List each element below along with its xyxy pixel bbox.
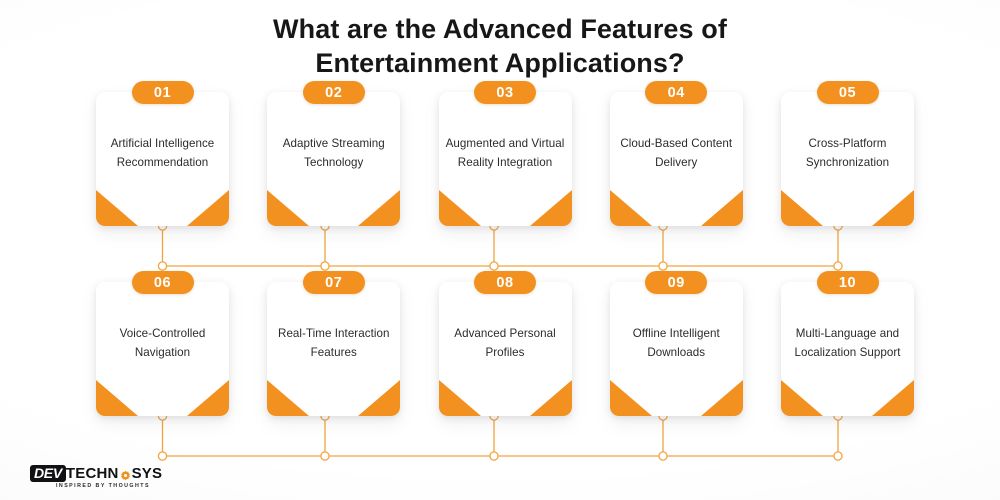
flap-right-triangle (187, 190, 229, 226)
card-body[interactable]: Voice-Controlled Navigation (96, 282, 229, 416)
flap-left-triangle (781, 190, 823, 226)
envelope-flap-icon (781, 380, 914, 416)
brand-logo-wordmark: DEV TECHN SYS (30, 465, 162, 482)
feature-card-10[interactable]: 10 Multi-Language and Localization Suppo… (781, 282, 914, 416)
flap-left-triangle (781, 380, 823, 416)
envelope-flap-icon (267, 190, 400, 226)
card-label: Advanced Personal Profiles (444, 324, 566, 374)
card-number-badge: 02 (303, 81, 365, 104)
page-title-line-1: What are the Advanced Features of (0, 12, 1000, 46)
card-body[interactable]: Advanced Personal Profiles (439, 282, 572, 416)
feature-card-row-2: 06 Voice-Controlled Navigation 07 Real-T… (96, 282, 914, 416)
card-number-badge: 06 (132, 271, 194, 294)
connector-node-bus-06 (158, 452, 166, 460)
card-label: Cross-Platform Synchronization (787, 134, 909, 184)
connector-node-bus-09 (659, 452, 667, 460)
flap-right-triangle (187, 380, 229, 416)
envelope-flap-icon (439, 190, 572, 226)
feature-card-09[interactable]: 09 Offline Intelligent Downloads (610, 282, 743, 416)
flap-right-triangle (701, 190, 743, 226)
card-number-badge: 01 (132, 81, 194, 104)
card-body[interactable]: Augmented and Virtual Reality Integratio… (439, 92, 572, 226)
envelope-flap-icon (781, 190, 914, 226)
connector-node-bus-07 (321, 452, 329, 460)
brand-logo: DEV TECHN SYS INSPIRED BY THOUGHTS (30, 465, 162, 489)
brand-logo-techn-text: TECHN (66, 466, 119, 481)
flap-left-triangle (439, 380, 481, 416)
card-number-badge: 05 (817, 81, 879, 104)
feature-card-08[interactable]: 08 Advanced Personal Profiles (439, 282, 572, 416)
brand-logo-dev-mark: DEV (30, 465, 66, 482)
page-title: What are the Advanced Features of Entert… (0, 12, 1000, 80)
card-number-badge: 04 (645, 81, 707, 104)
flap-right-triangle (358, 190, 400, 226)
connector-node-bus-04 (659, 262, 667, 270)
card-number-badge: 08 (474, 271, 536, 294)
flap-right-triangle (358, 380, 400, 416)
flap-left-triangle (96, 190, 138, 226)
card-number-badge: 03 (474, 81, 536, 104)
card-label: Adaptive Streaming Technology (273, 134, 395, 184)
card-label: Voice-Controlled Navigation (102, 324, 224, 374)
envelope-flap-icon (610, 190, 743, 226)
connector-node-bus-05 (834, 262, 842, 270)
card-body[interactable]: Adaptive Streaming Technology (267, 92, 400, 226)
card-number-badge: 10 (817, 271, 879, 294)
feature-card-02[interactable]: 02 Adaptive Streaming Technology (267, 92, 400, 226)
page-title-line-2: Entertainment Applications? (0, 46, 1000, 80)
card-label: Offline Intelligent Downloads (615, 324, 737, 374)
card-body[interactable]: Cloud-Based Content Delivery (610, 92, 743, 226)
card-number-badge: 07 (303, 271, 365, 294)
infographic-canvas: What are the Advanced Features of Entert… (0, 0, 1000, 500)
flap-left-triangle (439, 190, 481, 226)
card-label: Real-Time Interaction Features (273, 324, 395, 374)
card-body[interactable]: Cross-Platform Synchronization (781, 92, 914, 226)
feature-card-03[interactable]: 03 Augmented and Virtual Reality Integra… (439, 92, 572, 226)
envelope-flap-icon (267, 380, 400, 416)
connector-node-bus-10 (834, 452, 842, 460)
flap-left-triangle (610, 190, 652, 226)
card-label: Cloud-Based Content Delivery (615, 134, 737, 184)
envelope-flap-icon (610, 380, 743, 416)
card-label: Augmented and Virtual Reality Integratio… (444, 134, 566, 184)
flap-right-triangle (872, 380, 914, 416)
card-body[interactable]: Real-Time Interaction Features (267, 282, 400, 416)
connector-node-bus-01 (158, 262, 166, 270)
card-number-badge: 09 (645, 271, 707, 294)
gear-icon (120, 468, 131, 479)
flap-left-triangle (96, 380, 138, 416)
connector-node-bus-02 (321, 262, 329, 270)
flap-left-triangle (267, 190, 309, 226)
card-label: Multi-Language and Localization Support (787, 324, 909, 374)
flap-right-triangle (530, 380, 572, 416)
flap-left-triangle (267, 380, 309, 416)
flap-left-triangle (610, 380, 652, 416)
feature-card-06[interactable]: 06 Voice-Controlled Navigation (96, 282, 229, 416)
flap-right-triangle (872, 190, 914, 226)
feature-card-04[interactable]: 04 Cloud-Based Content Delivery (610, 92, 743, 226)
envelope-flap-icon (96, 190, 229, 226)
card-body[interactable]: Artificial Intelligence Recommendation (96, 92, 229, 226)
card-label: Artificial Intelligence Recommendation (102, 134, 224, 184)
flap-right-triangle (530, 190, 572, 226)
card-body[interactable]: Offline Intelligent Downloads (610, 282, 743, 416)
feature-card-05[interactable]: 05 Cross-Platform Synchronization (781, 92, 914, 226)
envelope-flap-icon (96, 380, 229, 416)
card-body[interactable]: Multi-Language and Localization Support (781, 282, 914, 416)
feature-card-row-1: 01 Artificial Intelligence Recommendatio… (96, 92, 914, 226)
envelope-flap-icon (439, 380, 572, 416)
connector-node-bus-03 (490, 262, 498, 270)
brand-logo-tagline: INSPIRED BY THOUGHTS (56, 483, 150, 489)
connector-node-bus-08 (490, 452, 498, 460)
brand-logo-sys-text: SYS (132, 466, 163, 481)
feature-card-01[interactable]: 01 Artificial Intelligence Recommendatio… (96, 92, 229, 226)
feature-card-07[interactable]: 07 Real-Time Interaction Features (267, 282, 400, 416)
flap-right-triangle (701, 380, 743, 416)
